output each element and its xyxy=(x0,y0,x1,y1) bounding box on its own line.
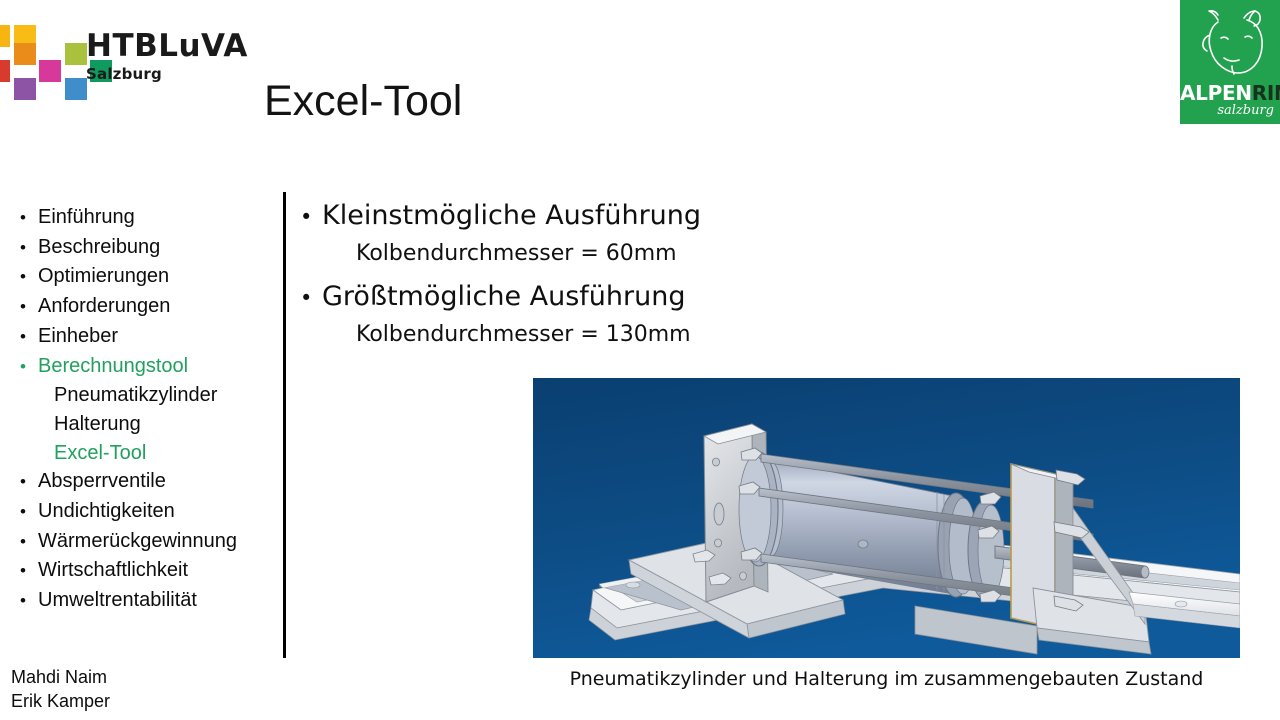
htbluva-city: Salzburg xyxy=(86,65,248,83)
page-title: Excel-Tool xyxy=(264,78,462,124)
content-heading-row: •Kleinstmögliche Ausführung xyxy=(300,196,770,237)
sidebar-outline: •Einführung•Beschreibung•Optimierungen•A… xyxy=(8,203,283,616)
sidebar-item-wirtschaftlichkeit[interactable]: •Wirtschaftlichkeit xyxy=(8,556,283,586)
sidebar-item-label: Anforderungen xyxy=(38,292,170,321)
sidebar-item-beschreibung[interactable]: •Beschreibung xyxy=(8,233,283,263)
figure-caption: Pneumatikzylinder und Halterung im zusam… xyxy=(533,666,1240,692)
content-item-2: •Größtmögliche AusführungKolbendurchmess… xyxy=(300,277,770,352)
pneumatic-cylinder-rendering xyxy=(533,378,1240,658)
sidebar-item-einheber[interactable]: •Einheber xyxy=(8,322,283,352)
alpenrind-word-secondary: RIND xyxy=(1252,81,1280,105)
sidebar-item-optimierungen[interactable]: •Optimierungen xyxy=(8,262,283,292)
authors: Mahdi Naim Erik Kamper xyxy=(11,665,110,713)
sidebar-item-label: Wirtschaftlichkeit xyxy=(38,556,188,585)
content-detail: Kolbendurchmesser = 130mm xyxy=(300,318,770,352)
alpenrind-subtitle: salzburg xyxy=(1217,103,1274,118)
bullet-icon: • xyxy=(8,293,38,322)
content-heading-row: •Größtmögliche Ausführung xyxy=(300,277,770,318)
htbluva-logo-mark xyxy=(0,25,82,97)
logo-square-4 xyxy=(65,43,87,65)
sidebar-item-halterung[interactable]: Halterung xyxy=(8,410,283,439)
sidebar-item-label: Pneumatikzylinder xyxy=(54,381,217,410)
sidebar-item-label: Berechnungstool xyxy=(38,352,188,381)
main-content: •Kleinstmögliche AusführungKolbendurchme… xyxy=(300,196,770,358)
bullet-icon: • xyxy=(8,234,38,263)
sidebar-item-umweltrentabilit-t[interactable]: •Umweltrentabilität xyxy=(8,586,283,616)
bullet-icon: • xyxy=(8,468,38,497)
htbluva-name: HTBLuVA xyxy=(86,29,248,63)
bullet-icon: • xyxy=(300,197,322,237)
content-detail: Kolbendurchmesser = 60mm xyxy=(300,237,770,271)
cow-head-icon xyxy=(1188,6,1274,84)
content-heading: Größtmögliche Ausführung xyxy=(322,277,686,317)
htbluva-logo: HTBLuVA Salzburg xyxy=(0,20,230,110)
sidebar-item-pneumatikzylinder[interactable]: Pneumatikzylinder xyxy=(8,381,283,410)
logo-square-6 xyxy=(39,60,61,82)
sidebar-item-excel-tool[interactable]: Excel-Tool xyxy=(8,439,283,468)
bullet-icon: • xyxy=(8,587,38,616)
sidebar-item-einf-hrung[interactable]: •Einführung xyxy=(8,203,283,233)
bullet-icon: • xyxy=(300,278,322,318)
sidebar-item-label: Halterung xyxy=(54,410,141,439)
content-heading: Kleinstmögliche Ausführung xyxy=(322,196,701,236)
sidebar-item-label: Einheber xyxy=(38,322,118,351)
sidebar-item-undichtigkeiten[interactable]: •Undichtigkeiten xyxy=(8,497,283,527)
logo-square-9 xyxy=(65,78,87,100)
bullet-icon: • xyxy=(8,528,38,557)
logo-square-5 xyxy=(0,60,10,82)
htbluva-wordmark: HTBLuVA Salzburg xyxy=(86,29,248,83)
sidebar-item-label: Wärmerückgewinnung xyxy=(38,527,237,556)
sidebar-item-label: Einführung xyxy=(38,203,135,232)
bullet-icon: • xyxy=(8,204,38,233)
logo-square-3 xyxy=(14,43,36,65)
sidebar-item-berechnungstool[interactable]: •Berechnungstool xyxy=(8,352,283,382)
author-line-2: Erik Kamper xyxy=(11,689,110,713)
sidebar-item-label: Excel-Tool xyxy=(54,439,146,468)
content-item-1: •Kleinstmögliche AusführungKolbendurchme… xyxy=(300,196,770,271)
sidebar-item-w-rmer-ckgewinnung[interactable]: •Wärmerückgewinnung xyxy=(8,527,283,557)
sidebar-item-label: Absperrventile xyxy=(38,467,166,496)
alpenrind-word-primary: ALPEN xyxy=(1180,81,1252,105)
bullet-icon: • xyxy=(8,498,38,527)
logo-square-1 xyxy=(0,25,10,47)
bullet-icon: • xyxy=(8,353,38,382)
bullet-icon: • xyxy=(8,263,38,292)
sidebar-item-label: Undichtigkeiten xyxy=(38,497,175,526)
vertical-divider xyxy=(283,192,286,658)
logo-square-8 xyxy=(14,78,36,100)
sidebar-item-label: Beschreibung xyxy=(38,233,160,262)
bullet-icon: • xyxy=(8,557,38,586)
alpenrind-logo: ALPENRIND salzburg xyxy=(1180,0,1280,124)
cad-figure xyxy=(533,378,1240,658)
bullet-icon: • xyxy=(8,323,38,352)
sidebar-item-anforderungen[interactable]: •Anforderungen xyxy=(8,292,283,322)
sidebar-item-absperrventile[interactable]: •Absperrventile xyxy=(8,467,283,497)
alpenrind-wordmark: ALPENRIND xyxy=(1180,83,1280,104)
sidebar-item-label: Optimierungen xyxy=(38,262,169,291)
sidebar-item-label: Umweltrentabilität xyxy=(38,586,197,615)
author-line-1: Mahdi Naim xyxy=(11,665,110,689)
